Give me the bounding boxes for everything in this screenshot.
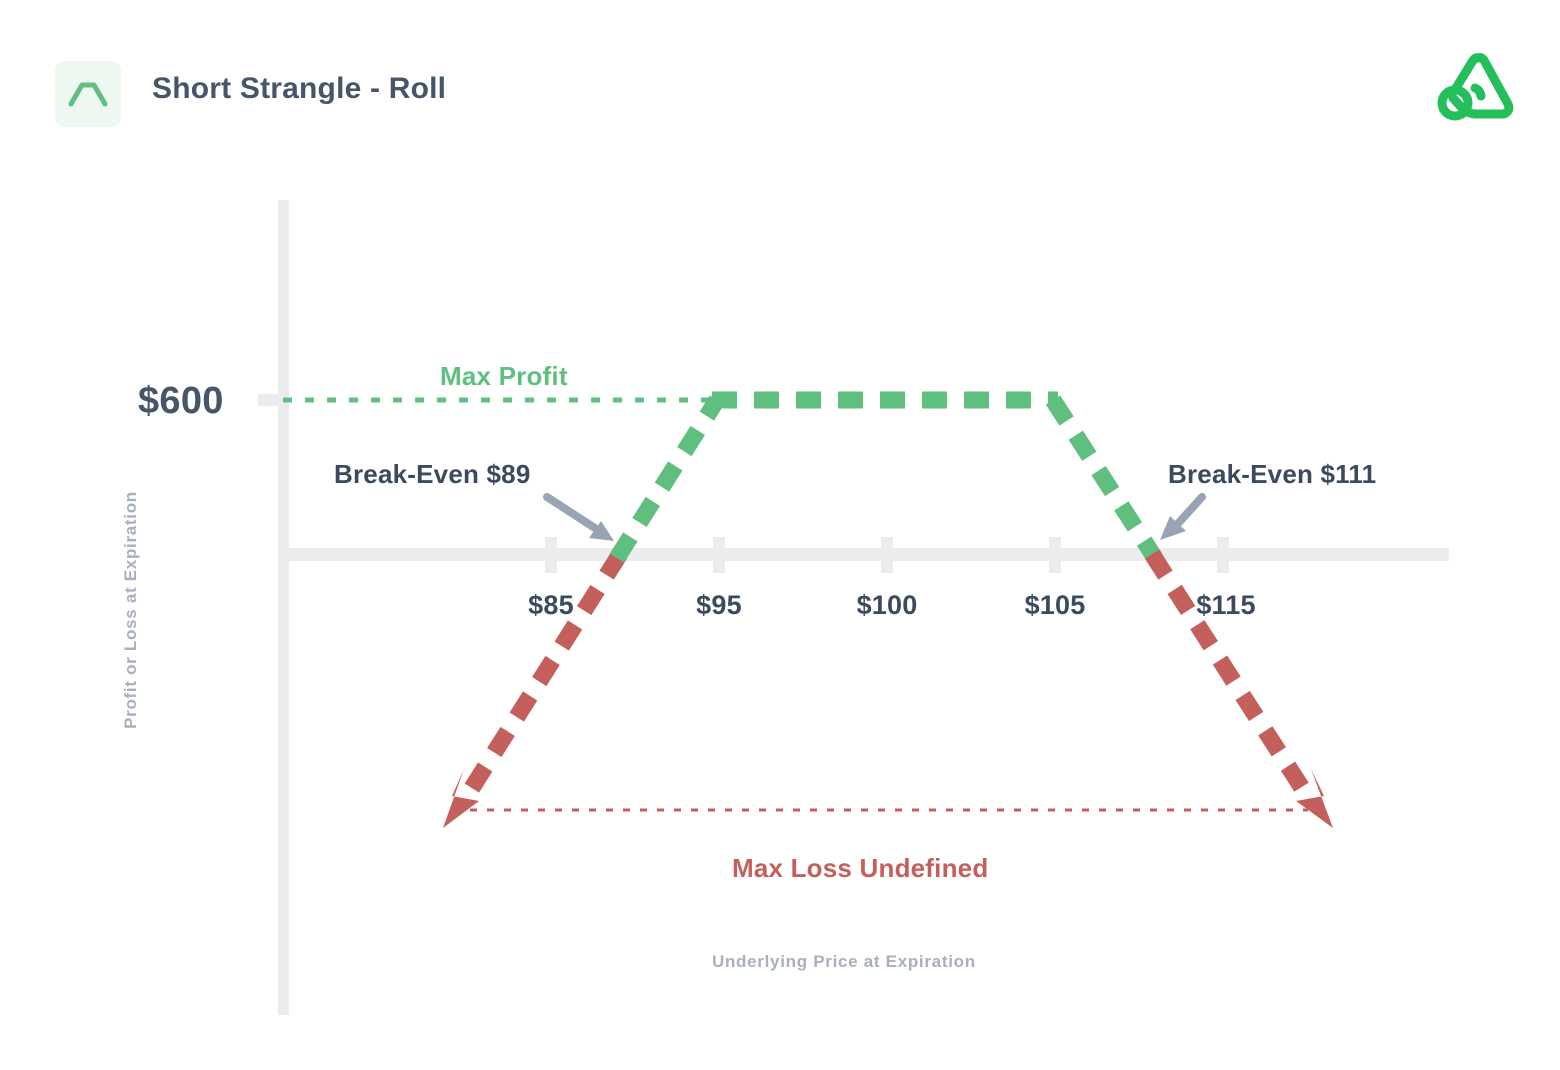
profit-leg-ascending xyxy=(617,400,717,558)
x-axis-tick-label-95: $95 xyxy=(696,590,742,621)
y-axis-title: Profit or Loss at Expiration xyxy=(121,460,141,760)
x-axis-tick-label-100: $100 xyxy=(857,590,918,621)
break-even-high-arrow xyxy=(1160,497,1202,540)
break-even-high-annotation: Break-Even $111 xyxy=(1168,459,1376,490)
profit-leg-descending xyxy=(1053,400,1155,558)
x-axis-tick-115 xyxy=(1217,537,1229,573)
x-axis-line xyxy=(289,548,1449,561)
payoff-chart: $600 Max Profit Break-Even $89 Break-Eve… xyxy=(0,0,1560,1070)
x-axis-tick-105 xyxy=(1049,537,1061,573)
payoff-chart-svg xyxy=(0,0,1560,1070)
max-profit-annotation: Max Profit xyxy=(440,361,568,392)
x-axis-tick-85 xyxy=(545,537,557,573)
max-loss-annotation: Max Loss Undefined xyxy=(732,853,988,884)
y-axis-tick-label-600: $600 xyxy=(138,380,224,423)
x-axis-tick-label-115: $115 xyxy=(1196,590,1255,621)
break-even-low-annotation: Break-Even $89 xyxy=(334,459,530,490)
y-axis-line xyxy=(278,200,289,1015)
x-axis-title: Underlying Price at Expiration xyxy=(712,952,976,972)
x-axis-tick-label-85: $85 xyxy=(528,590,574,621)
x-axis-tick-100 xyxy=(881,537,893,573)
x-axis-tick-label-105: $105 xyxy=(1025,590,1086,621)
x-axis-tick-95 xyxy=(713,537,725,573)
break-even-low-arrow xyxy=(547,497,614,541)
